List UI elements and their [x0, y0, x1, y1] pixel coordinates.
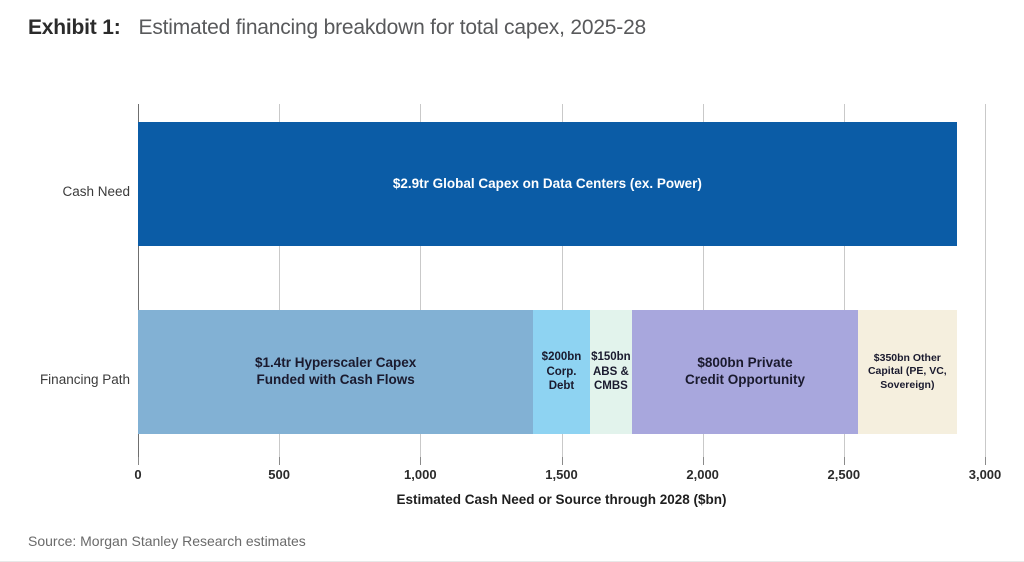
- bar-segment-corporate-debt[interactable]: $200bn Corp. Debt: [533, 310, 589, 434]
- bar-segment-hyperscaler-capex-cash-flows[interactable]: $1.4tr Hyperscaler Capex Funded with Cas…: [138, 310, 533, 434]
- bar-row-cash-need: $2.9tr Global Capex on Data Centers (ex.…: [138, 122, 985, 246]
- stacked-bar-chart: Cash Need Financing Path $2.9tr Global C…: [0, 80, 1024, 500]
- plot-area: $2.9tr Global Capex on Data Centers (ex.…: [138, 104, 985, 457]
- exhibit-header: Exhibit 1: Estimated financing breakdown…: [28, 16, 646, 40]
- source-note: Source: Morgan Stanley Research estimate…: [28, 533, 306, 549]
- x-axis-ticks: 05001,0001,5002,0002,5003,000: [138, 457, 985, 487]
- x-tick-mark: [562, 457, 563, 465]
- x-tick-label: 1,000: [404, 467, 437, 482]
- bar-segment-label-abs-and-cmbs: $150bn ABS & CMBS: [590, 350, 632, 393]
- x-tick-mark: [985, 457, 986, 465]
- x-tick-label: 1,500: [545, 467, 578, 482]
- x-tick-label: 3,000: [969, 467, 1002, 482]
- bar-segment-private-credit-opportunity[interactable]: $800bn Private Credit Opportunity: [632, 310, 858, 434]
- bar-segment-label-corporate-debt: $200bn Corp. Debt: [540, 350, 584, 393]
- x-tick-mark: [844, 457, 845, 465]
- bar-segment-label-private-credit-opportunity: $800bn Private Credit Opportunity: [683, 355, 807, 389]
- exhibit-number-label: Exhibit 1:: [28, 16, 121, 40]
- x-tick-mark: [279, 457, 280, 465]
- x-tick-label: 2,500: [828, 467, 861, 482]
- category-label-cash-need: Cash Need: [46, 184, 130, 199]
- x-tick-mark: [703, 457, 704, 465]
- bar-segment-abs-and-cmbs[interactable]: $150bn ABS & CMBS: [590, 310, 632, 434]
- x-axis-title: Estimated Cash Need or Source through 20…: [138, 492, 985, 507]
- page-title: Estimated financing breakdown for total …: [139, 16, 647, 40]
- bar-segment-label-hyperscaler-capex-cash-flows: $1.4tr Hyperscaler Capex Funded with Cas…: [253, 355, 418, 389]
- x-tick-label: 2,000: [686, 467, 719, 482]
- gridline: [985, 104, 986, 457]
- category-label-financing-path: Financing Path: [26, 372, 130, 387]
- x-tick-label: 0: [134, 467, 141, 482]
- bar-row-financing-path: $1.4tr Hyperscaler Capex Funded with Cas…: [138, 310, 985, 434]
- bar-segment-label-other-capital: $350bn Other Capital (PE, VC, Sovereign): [866, 352, 949, 391]
- bar-segment-label-global-capex-data-centers: $2.9tr Global Capex on Data Centers (ex.…: [391, 176, 704, 193]
- x-tick-label: 500: [268, 467, 290, 482]
- x-tick-mark: [138, 457, 139, 465]
- bar-segment-global-capex-data-centers[interactable]: $2.9tr Global Capex on Data Centers (ex.…: [138, 122, 957, 246]
- bar-segment-other-capital[interactable]: $350bn Other Capital (PE, VC, Sovereign): [858, 310, 957, 434]
- x-tick-mark: [420, 457, 421, 465]
